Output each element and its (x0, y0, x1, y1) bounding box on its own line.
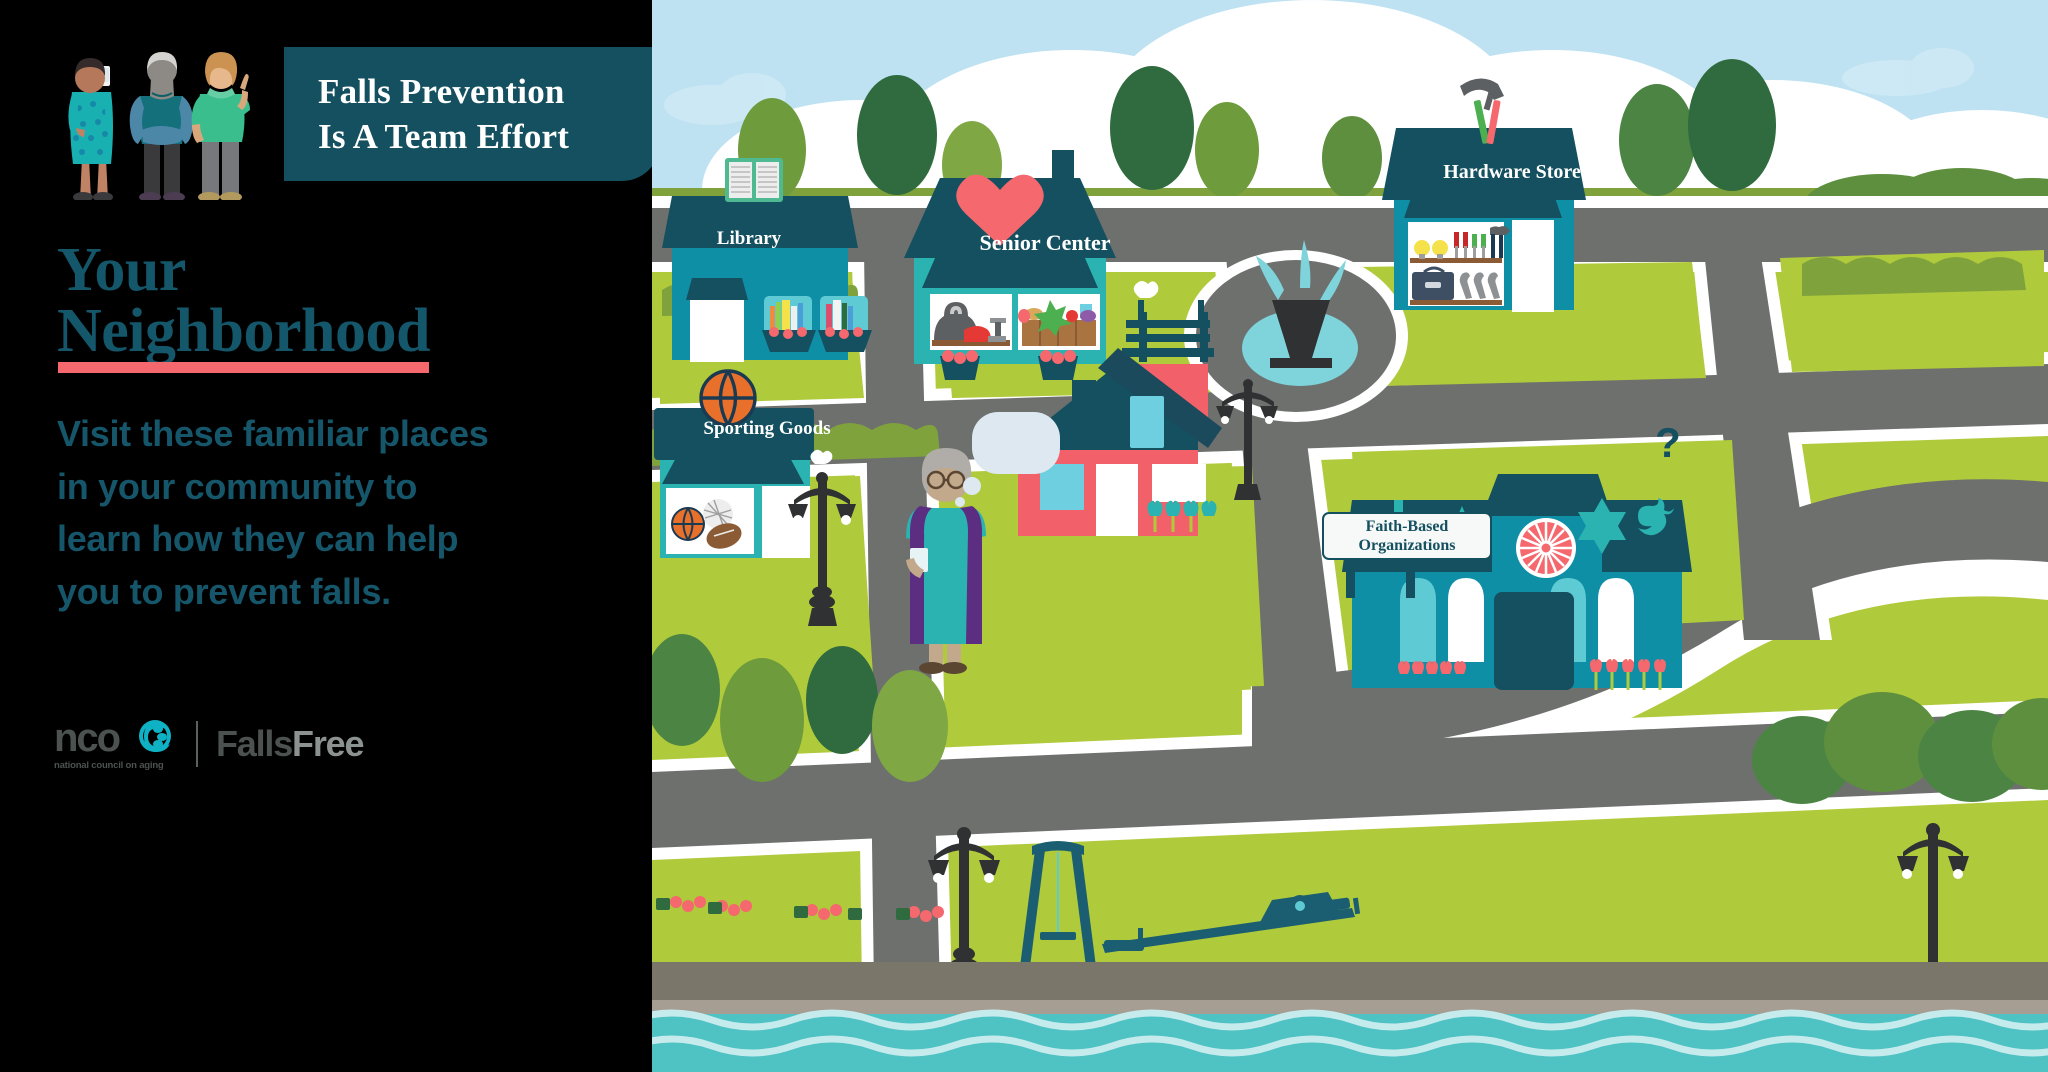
building-label-sporting-goods: Sporting Goods (652, 418, 882, 440)
person-woman-teal-dress (68, 58, 113, 200)
faith-sign-line-1: Faith-Based (1366, 517, 1449, 536)
logo-lockup: nco national council on aging FallsFree (54, 716, 363, 772)
title-banner: Falls Prevention Is A Team Effort (284, 47, 652, 181)
faith-tower-roof (1482, 474, 1612, 516)
house-left-window (1040, 464, 1084, 510)
body-line-4: you to prevent falls. (57, 566, 617, 619)
building-label-senior-center: Senior Center (920, 230, 1170, 256)
banner-line-1: Falls Prevention (318, 69, 652, 114)
chimney (1052, 150, 1074, 182)
heading-line-1: Your (57, 240, 617, 301)
ncoa-logo: nco national council on aging (54, 718, 174, 771)
fallsfree-falls: Falls (216, 723, 292, 764)
fallsfree-free: Free (292, 723, 363, 764)
faith-based-sign: Faith-Based Organizations (1322, 512, 1492, 560)
thought-bubble-question-mark: ? (1624, 412, 1712, 474)
rose-window (1520, 522, 1572, 574)
three-people-illustration (52, 30, 277, 200)
basketball-icon (701, 371, 755, 425)
logo-divider (196, 721, 198, 767)
ncoa-tagline: national council on aging (54, 760, 174, 771)
neighborhood-map: Library Senior Center Hardware Store Spo… (652, 0, 2048, 1072)
bird-icon (810, 450, 832, 464)
house-right-window (1152, 464, 1206, 502)
open-book-icon (725, 158, 783, 202)
building-label-hardware-store: Hardware Store (1382, 161, 1642, 184)
building-faith-based (1342, 474, 1692, 690)
sporting-awning (662, 454, 804, 484)
house-upper-window (1130, 396, 1164, 448)
banner-line-2: Is A Team Effort (318, 114, 652, 159)
infographic-root: Falls Prevention Is A Team Effort Your N… (0, 0, 2048, 1072)
body-line-1: Visit these familiar places (57, 408, 617, 461)
ncoa-swoosh-icon (138, 719, 172, 753)
heading-underline-rule (58, 362, 429, 373)
house-chimney (1072, 380, 1096, 428)
fallsfree-wordmark: FallsFree (216, 723, 363, 765)
body-line-2: in your community to (57, 461, 617, 514)
faith-sign-line-2: Organizations (1359, 536, 1456, 555)
page-title: Your Neighborhood (57, 240, 617, 362)
body-line-3: learn how they can help (57, 513, 617, 566)
heading-line-2: Neighborhood (57, 301, 617, 362)
left-text-panel: Falls Prevention Is A Team Effort Your N… (0, 0, 652, 1072)
person-woman-green-top (192, 52, 250, 200)
building-label-library: Library (653, 228, 845, 250)
bird-icon (1134, 281, 1159, 298)
faith-door (1494, 592, 1574, 690)
river-bank-dark (652, 962, 2048, 1002)
house-door (1096, 464, 1138, 536)
body-copy: Visit these familiar places in your comm… (57, 408, 617, 618)
person-man-blue-sweater (130, 52, 193, 200)
